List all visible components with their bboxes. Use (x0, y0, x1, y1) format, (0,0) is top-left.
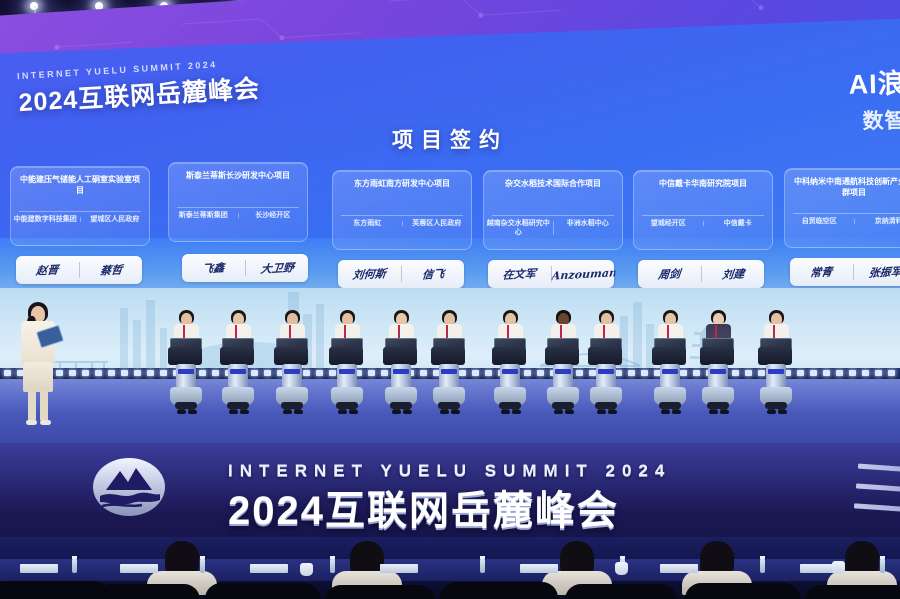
podium-label (662, 369, 678, 374)
bottle-cap (760, 556, 765, 559)
signature-box: 刘何斯 信飞 (338, 260, 464, 288)
project-card: 斯泰兰蒂斯长沙研发中心项目 斯泰兰蒂斯集团 长沙经开区 (168, 162, 308, 242)
project-title: 中科纳米中南通航科技创新产业集群项目 (791, 176, 900, 198)
podium-label (230, 369, 246, 374)
audience-name-card (380, 564, 418, 573)
front-row-silhouette (685, 583, 800, 599)
signing-robot-podium (488, 338, 532, 412)
podium-wheel (595, 402, 617, 409)
signing-robot-podium (541, 338, 585, 412)
podium-wheel (175, 402, 197, 409)
led-pixel (810, 370, 817, 376)
podium-wheel (281, 402, 303, 409)
signing-robot-podium (216, 338, 260, 412)
podium-column (596, 364, 616, 388)
signature-right: 信飞 (400, 264, 465, 283)
led-pixel (82, 370, 89, 376)
water-bottle (72, 559, 77, 573)
project-card: 中能建压气储能人工硐室实验室项目 中能建数字科技集团 望城区人民政府 (10, 166, 150, 246)
party-left: 中能建数字科技集团 (11, 215, 80, 224)
led-pixel (69, 370, 76, 376)
podium-body (329, 347, 363, 365)
podium-label (393, 369, 409, 374)
water-bottle (200, 559, 205, 573)
water-bottle (760, 559, 765, 573)
signing-robot-podium (427, 338, 471, 412)
signature-right: 张振军 (852, 262, 900, 281)
podium-column (282, 364, 302, 388)
party-left: 自贸临空区 (785, 217, 854, 226)
party-right: 京纳清科 (855, 217, 900, 226)
section-title: 项目签约 (0, 124, 900, 154)
front-row-silhouette (325, 585, 435, 599)
podium-column (660, 364, 680, 388)
front-row-silhouette (95, 584, 200, 599)
podium-column (553, 364, 573, 388)
podium-label (502, 369, 518, 374)
project-card: 中信戴卡华南研究院项目 望城经开区 中信戴卡 (633, 170, 773, 250)
podium-wheel (659, 402, 681, 409)
podium-wheel (552, 402, 574, 409)
signature-box: 周剑 刘建 (638, 260, 764, 288)
podium-body (652, 347, 686, 365)
signature-left: 周剑 (637, 264, 702, 283)
podium-column (766, 364, 786, 388)
card-divider (793, 213, 900, 214)
audience-name-card (120, 564, 158, 573)
signature-left: 赵晋 (15, 260, 80, 279)
party-right: 望城区人民政府 (81, 215, 150, 224)
led-pixel (745, 370, 752, 376)
led-pixel (121, 370, 128, 376)
podium-wheel (438, 402, 460, 409)
podium-label (710, 369, 726, 374)
podium-column (439, 364, 459, 388)
tea-cup (832, 561, 845, 574)
podium-body (220, 347, 254, 365)
podium-wheel (499, 402, 521, 409)
front-row-silhouette (0, 581, 110, 599)
podium-wheel (707, 402, 729, 409)
podium-label (598, 369, 614, 374)
podium-column (228, 364, 248, 388)
party-right: 芙蓉区人民政府 (403, 219, 472, 228)
signature-box: 常青 张振军 (790, 258, 900, 286)
podium-column (391, 364, 411, 388)
party-left: 东方雨虹 (333, 219, 402, 228)
podium-label (284, 369, 300, 374)
led-pixel (849, 370, 856, 376)
signing-robot-podium (696, 338, 740, 412)
signature-box: 赵晋 蔡哲 (16, 256, 142, 284)
project-title: 东方雨虹南方研发中心项目 (339, 178, 465, 189)
signature-right: Anzoumana (551, 266, 615, 282)
led-pixel (823, 370, 830, 376)
led-pixel (888, 370, 895, 376)
project-title: 中信戴卡华南研究院项目 (640, 178, 766, 189)
project-parties: 斯泰兰蒂斯集团 长沙经开区 (169, 211, 307, 220)
card-divider (177, 207, 299, 208)
podium-column (500, 364, 520, 388)
led-pixel (108, 370, 115, 376)
podium-column (176, 364, 196, 388)
podium-column (337, 364, 357, 388)
signature-right: 蔡哲 (78, 260, 143, 279)
signature-box: 飞鑫 大卫野 (182, 254, 308, 282)
signature-left: 飞鑫 (181, 258, 246, 277)
podium-wheel (336, 402, 358, 409)
led-pixel (134, 370, 141, 376)
bottle-cap (330, 556, 335, 559)
front-row-silhouette (805, 585, 900, 599)
host-presenter (8, 302, 68, 427)
signing-robot-podium (325, 338, 369, 412)
bottle-cap (880, 556, 885, 559)
stage-logo-cn: 2024互联网岳麓峰会 (228, 478, 619, 536)
card-divider (642, 215, 764, 216)
project-parties: 中能建数字科技集团 望城区人民政府 (11, 215, 149, 224)
water-bottle (480, 559, 485, 573)
led-pixel (875, 370, 882, 376)
bottle-cap (480, 556, 485, 559)
project-title: 中能建压气储能人工硐室实验室项目 (17, 174, 143, 196)
signature-left: 在文军 (487, 264, 552, 283)
signing-robot-podium (584, 338, 628, 412)
led-pixel (628, 370, 635, 376)
project-title: 杂交水稻技术国际合作项目 (490, 178, 616, 189)
project-parties: 越南杂交水稻研究中心 非洲水稻中心 (484, 219, 622, 237)
project-card: 中科纳米中南通航科技创新产业集群项目 自贸临空区 京纳清科 (784, 168, 900, 248)
project-card: 杂交水稻技术国际合作项目 越南杂交水稻研究中心 非洲水稻中心 (483, 170, 623, 250)
led-pixel (836, 370, 843, 376)
signature-right: 刘建 (700, 264, 765, 283)
project-parties: 东方雨虹 芙蓉区人民政府 (333, 219, 471, 228)
audience-area (0, 537, 900, 599)
front-row-silhouette (565, 584, 677, 599)
bottle-cap (620, 556, 625, 559)
signature-box-list: 赵晋 蔡哲飞鑫 大卫野刘何斯 信飞在文军 Anzoumana周剑 刘建常青 张振… (0, 252, 900, 286)
signing-robot-podium (379, 338, 423, 412)
podium-body (700, 347, 734, 365)
led-pixel (472, 370, 479, 376)
podium-body (545, 347, 579, 365)
podium-label (441, 369, 457, 374)
led-pixel (368, 370, 375, 376)
audience-name-card (520, 564, 558, 573)
party-right: 长沙经开区 (239, 211, 308, 220)
podium-label (768, 369, 784, 374)
led-headline-right-line1: AI浪 (848, 61, 900, 101)
led-pixel (641, 370, 648, 376)
podium-body (383, 347, 417, 365)
signing-robot-podium (270, 338, 314, 412)
water-bottle (330, 559, 335, 573)
signature-right: 大卫野 (244, 258, 309, 277)
audience-name-card (660, 564, 698, 573)
card-divider (19, 211, 141, 212)
project-title: 斯泰兰蒂斯长沙研发中心项目 (175, 170, 301, 181)
water-bottle (880, 559, 885, 573)
podium-body (274, 347, 308, 365)
project-parties: 望城经开区 中信戴卡 (634, 219, 772, 228)
signature-box: 在文军 Anzoumana (488, 260, 614, 288)
party-left: 斯泰兰蒂斯集团 (169, 211, 238, 220)
front-row-silhouette (440, 582, 558, 599)
led-pixel (95, 370, 102, 376)
podium-body (431, 347, 465, 365)
project-card-list: 中能建压气储能人工硐室实验室项目 中能建数字科技集团 望城区人民政府 斯泰兰蒂斯… (0, 156, 900, 252)
led-pixel (147, 370, 154, 376)
led-pixel (862, 370, 869, 376)
bottle-cap (72, 556, 77, 559)
event-photo-scene: INTERNET YUELU SUMMIT 2024 2024互联网岳麓峰会 A… (0, 0, 900, 599)
podium-column (708, 364, 728, 388)
podium-body (492, 347, 526, 365)
podium-body (588, 347, 622, 365)
bottle-cap (200, 556, 205, 559)
led-pixel (316, 370, 323, 376)
signature-left: 常青 (789, 262, 854, 281)
card-divider (341, 215, 463, 216)
podium-body (758, 347, 792, 365)
podium-label (339, 369, 355, 374)
party-left: 越南杂交水稻研究中心 (484, 219, 553, 237)
podium-body (168, 347, 202, 365)
signing-robot-podium (754, 338, 798, 412)
card-divider (492, 215, 614, 216)
podium-wheel (765, 402, 787, 409)
signing-robot-podium (648, 338, 692, 412)
project-card: 东方雨虹南方研发中心项目 东方雨虹 芙蓉区人民政府 (332, 170, 472, 250)
tea-cup (300, 563, 313, 576)
party-right: 非洲水稻中心 (554, 219, 623, 237)
signature-left: 刘何斯 (337, 264, 402, 283)
led-pixel (797, 370, 804, 376)
podium-label (555, 369, 571, 374)
podium-label (178, 369, 194, 374)
signing-robot-podium (164, 338, 208, 412)
podium-wheel (227, 402, 249, 409)
party-left: 望城经开区 (634, 219, 703, 228)
summit-mountain-cloud-logo-icon (92, 456, 166, 518)
party-right: 中信戴卡 (704, 219, 773, 228)
project-parties: 自贸临空区 京纳清科 (785, 217, 900, 226)
tea-cup (615, 562, 628, 575)
podium-wheel (390, 402, 412, 409)
audience-name-card (250, 564, 288, 573)
audience-name-card (20, 564, 58, 573)
front-row-silhouette (205, 583, 320, 599)
